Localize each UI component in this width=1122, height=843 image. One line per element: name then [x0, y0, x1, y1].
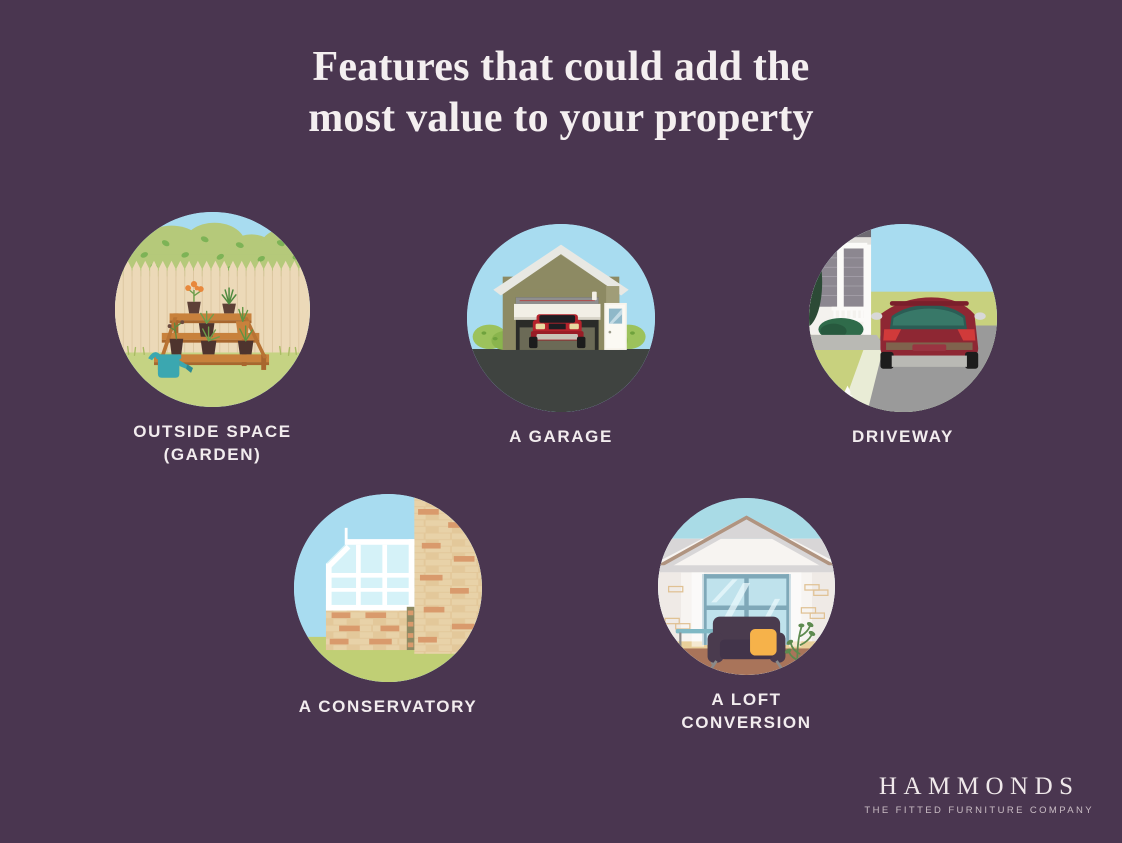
feature-label-driveway: DRIVEWAY: [809, 426, 997, 449]
title-line-2: most value to your property: [0, 93, 1122, 144]
feature-label-conservatory: A CONSERVATORY: [294, 696, 482, 719]
brand-name: HAMMONDS: [864, 774, 1094, 799]
feature-garage[interactable]: A GARAGE: [467, 224, 655, 449]
feature-conservatory[interactable]: A CONSERVATORY: [294, 494, 482, 719]
feature-loft-conversion[interactable]: A LOFT CONVERSION: [658, 498, 835, 735]
feature-outside-space[interactable]: OUTSIDE SPACE (GARDEN): [115, 212, 310, 467]
illustration-garage: [467, 224, 655, 412]
garage-scene-svg: [467, 224, 655, 412]
feature-label-garage: A GARAGE: [467, 426, 655, 449]
page-title: Features that could add the most value t…: [0, 42, 1122, 144]
illustration-garden: [115, 212, 310, 407]
conservatory-scene-svg: [294, 494, 482, 682]
loft-scene-svg: [658, 498, 835, 675]
title-line-1: Features that could add the: [0, 42, 1122, 93]
illustration-conservatory: [294, 494, 482, 682]
infographic-canvas: Features that could add the most value t…: [0, 0, 1122, 843]
brand-tagline: THE FITTED FURNITURE COMPANY: [864, 806, 1094, 816]
feature-label-loft-conversion: A LOFT CONVERSION: [658, 689, 835, 735]
driveway-scene-svg: [809, 224, 997, 412]
illustration-loft: [658, 498, 835, 675]
feature-label-outside-space: OUTSIDE SPACE (GARDEN): [115, 421, 310, 467]
garden-scene-svg: [115, 212, 310, 407]
brand-logo: HAMMONDS THE FITTED FURNITURE COMPANY: [864, 774, 1094, 816]
feature-driveway[interactable]: DRIVEWAY: [809, 224, 997, 449]
illustration-driveway: [809, 224, 997, 412]
